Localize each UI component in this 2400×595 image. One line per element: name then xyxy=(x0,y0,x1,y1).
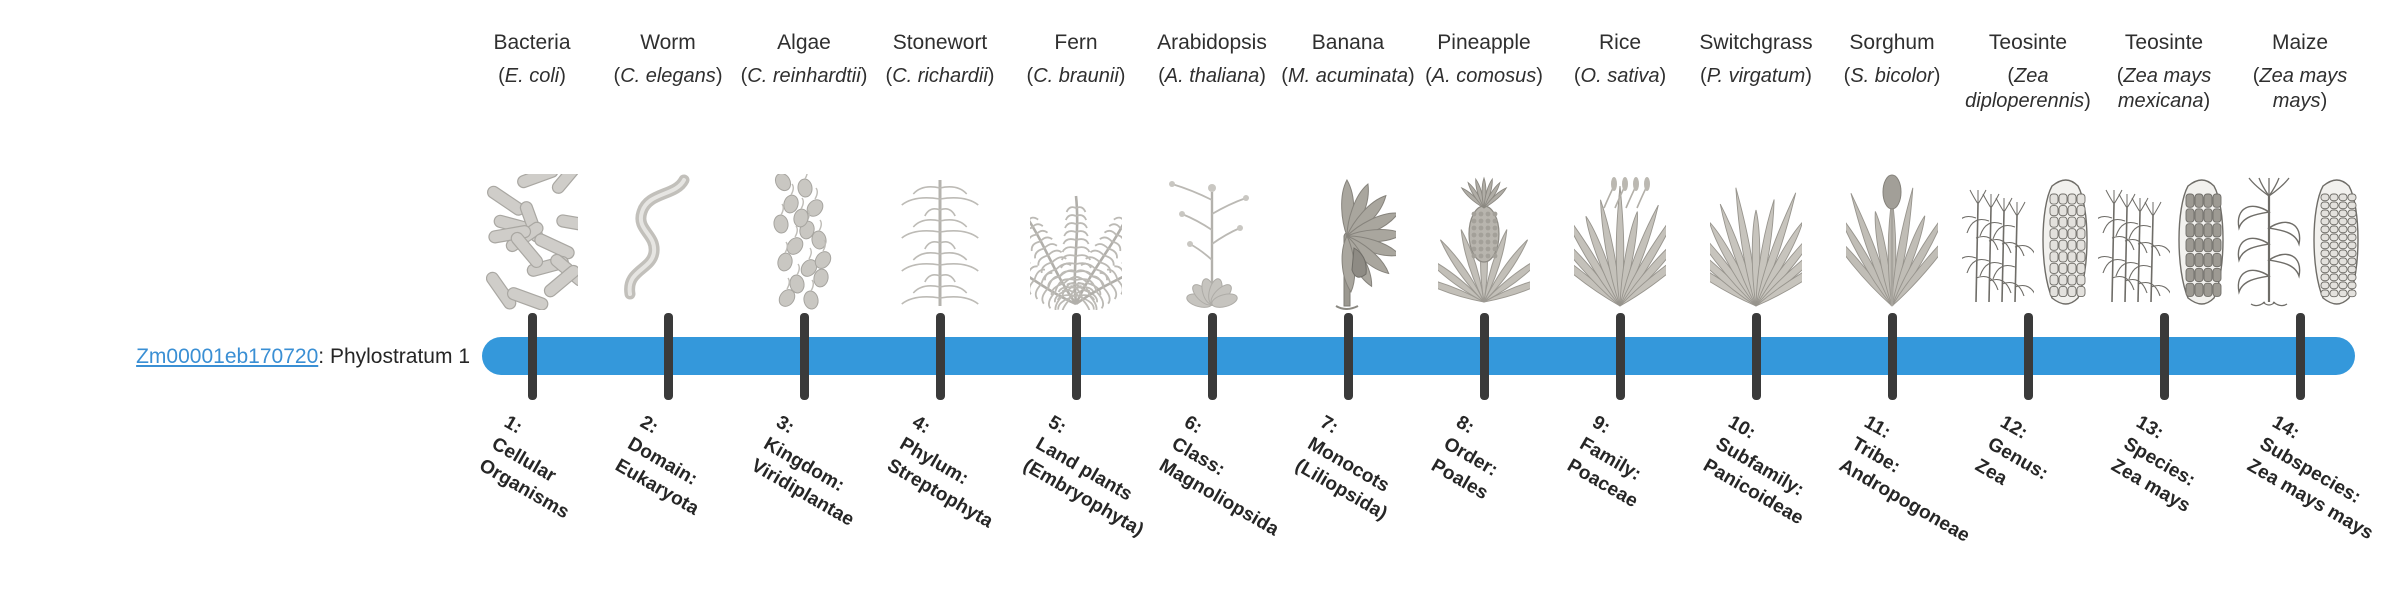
phylostratum-bar[interactable] xyxy=(482,337,2355,375)
timeline-tick-1[interactable] xyxy=(528,313,537,400)
species-column-14: Maize(Zea mays mays) xyxy=(2225,30,2375,114)
species-common-name: Teosinte xyxy=(2089,30,2239,56)
timeline-tick-10[interactable] xyxy=(1752,313,1761,400)
species-common-name: Stonewort xyxy=(865,30,1015,56)
phylostratum-row-label: Zm00001eb170720: Phylostratum 1 xyxy=(40,337,470,375)
species-column-1: Bacteria(E. coli) xyxy=(457,30,607,114)
species-column-7: Banana(M. acuminata) xyxy=(1273,30,1423,114)
species-column-12: Teosinte(Zea diploperennis) xyxy=(1953,30,2103,114)
species-scientific-name: (M. acuminata) xyxy=(1273,64,1423,114)
species-scientific-name: (Zea diploperennis) xyxy=(1953,64,2103,114)
species-common-name: Bacteria xyxy=(457,30,607,56)
species-scientific-name: (E. coli) xyxy=(457,64,607,114)
species-scientific-name: (C. richardii) xyxy=(865,64,1015,114)
species-common-name: Pineapple xyxy=(1409,30,1559,56)
timeline-tick-3[interactable] xyxy=(800,313,809,400)
fern-icon xyxy=(1001,168,1151,310)
species-scientific-name: (O. sativa) xyxy=(1545,64,1695,114)
species-scientific-name: (C. braunii) xyxy=(1001,64,1151,114)
species-scientific-name: (P. virgatum) xyxy=(1681,64,1831,114)
bacteria-icon xyxy=(457,168,607,310)
timeline-tick-12[interactable] xyxy=(2024,313,2033,400)
sorghum-icon xyxy=(1817,168,1967,310)
species-column-4: Stonewort(C. richardii) xyxy=(865,30,1015,114)
timeline-tick-13[interactable] xyxy=(2160,313,2169,400)
species-column-6: Arabidopsis(A. thaliana) xyxy=(1137,30,1287,114)
species-common-name: Teosinte xyxy=(1953,30,2103,56)
species-common-name: Maize xyxy=(2225,30,2375,56)
teosinte-diploperennis-icon xyxy=(1953,168,2103,310)
species-common-name: Switchgrass xyxy=(1681,30,1831,56)
algae-icon xyxy=(729,168,879,310)
species-column-2: Worm(C. elegans) xyxy=(593,30,743,114)
timeline-tick-11[interactable] xyxy=(1888,313,1897,400)
teosinte-mexicana-icon xyxy=(2089,168,2239,310)
species-common-name: Sorghum xyxy=(1817,30,1967,56)
timeline-tick-9[interactable] xyxy=(1616,313,1625,400)
stonewort-icon xyxy=(865,168,1015,310)
species-scientific-name: (S. bicolor) xyxy=(1817,64,1967,114)
species-common-name: Arabidopsis xyxy=(1137,30,1287,56)
switchgrass-icon xyxy=(1681,168,1831,310)
species-common-name: Algae xyxy=(729,30,879,56)
timeline-tick-8[interactable] xyxy=(1480,313,1489,400)
species-scientific-name: (Zea mays mexicana) xyxy=(2089,64,2239,114)
species-column-5: Fern(C. braunii) xyxy=(1001,30,1151,114)
species-common-name: Fern xyxy=(1001,30,1151,56)
species-common-name: Worm xyxy=(593,30,743,56)
species-column-9: Rice(O. sativa) xyxy=(1545,30,1695,114)
timeline-tick-14[interactable] xyxy=(2296,313,2305,400)
pineapple-icon xyxy=(1409,168,1559,310)
arabidopsis-icon xyxy=(1137,168,1287,310)
timeline-tick-2[interactable] xyxy=(664,313,673,400)
timeline-tick-6[interactable] xyxy=(1208,313,1217,400)
banana-icon xyxy=(1273,168,1423,310)
species-common-name: Rice xyxy=(1545,30,1695,56)
species-scientific-name: (A. thaliana) xyxy=(1137,64,1287,114)
species-common-name: Banana xyxy=(1273,30,1423,56)
species-scientific-name: (A. comosus) xyxy=(1409,64,1559,114)
timeline-tick-4[interactable] xyxy=(936,313,945,400)
species-column-10: Switchgrass(P. virgatum) xyxy=(1681,30,1831,114)
phylostratum-value: : Phylostratum 1 xyxy=(318,346,470,367)
species-scientific-name: (C. elegans) xyxy=(593,64,743,114)
species-column-3: Algae(C. reinhardtii) xyxy=(729,30,879,114)
species-scientific-name: (Zea mays mays) xyxy=(2225,64,2375,114)
species-column-8: Pineapple(A. comosus) xyxy=(1409,30,1559,114)
species-column-13: Teosinte(Zea mays mexicana) xyxy=(2089,30,2239,114)
worm-icon xyxy=(593,168,743,310)
species-scientific-name: (C. reinhardtii) xyxy=(729,64,879,114)
timeline-tick-7[interactable] xyxy=(1344,313,1353,400)
rice-icon xyxy=(1545,168,1695,310)
maize-icon xyxy=(2225,168,2375,310)
timeline-tick-5[interactable] xyxy=(1072,313,1081,400)
species-column-11: Sorghum(S. bicolor) xyxy=(1817,30,1967,114)
gene-id-link[interactable]: Zm00001eb170720 xyxy=(136,346,318,367)
